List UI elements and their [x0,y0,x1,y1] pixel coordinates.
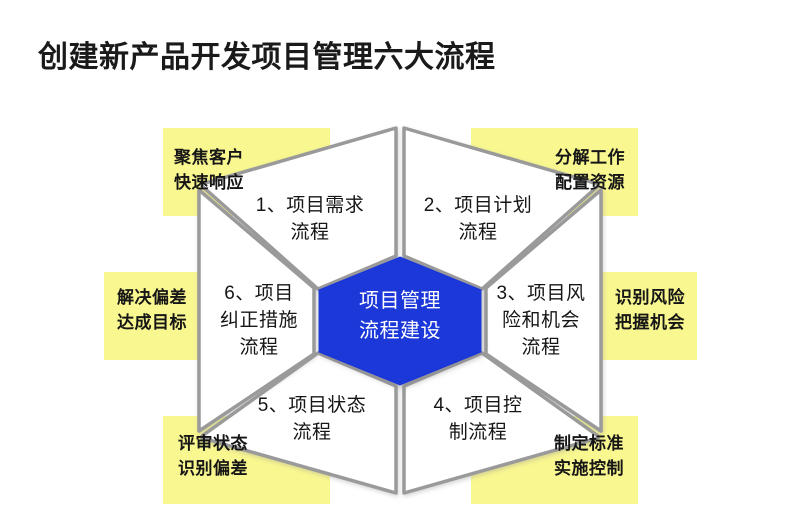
note-bottom-right-line1: 制定标准 [554,433,624,453]
note-right-line2: 把握机会 [615,312,685,332]
segment-3-label-line2: 险和机会 [502,309,580,331]
segment-6-label-line3: 流程 [239,336,278,358]
segment-4-label-line2: 制流程 [449,421,508,443]
note-bottom-right-line2: 实施控制 [554,458,624,478]
note-top-right-line1: 分解工作 [555,147,625,167]
segment-3-label-line3: 流程 [521,336,560,358]
segment-5-label-line2: 流程 [292,421,331,443]
segment-5-label-line1: 5、项目状态 [258,394,367,416]
hexagon-process-diagram: 1、项目需求 流程 2、项目计划 流程 3、项目风 险和机会 流程 4、项目控 … [0,0,801,532]
note-top-left-line2: 快速响应 [174,172,244,192]
note-left-line1: 解决偏差 [117,287,187,307]
segment-4-label-line1: 4、项目控 [433,394,522,416]
note-right-line1: 识别风险 [615,287,685,307]
segment-2-label-line1: 2、项目计划 [424,194,533,216]
center-label-line2: 流程建设 [359,319,441,342]
center-label-line1: 项目管理 [359,289,441,312]
segment-1-label-line2: 流程 [290,221,329,243]
note-bottom-left-line2: 识别偏差 [178,458,248,478]
note-top-right-line2: 配置资源 [555,172,625,192]
note-bottom-left-line1: 评审状态 [178,433,248,453]
segment-6-label-line1: 6、项目 [224,283,294,304]
segment-6-label-line2: 纠正措施 [220,309,298,331]
note-left-line2: 达成目标 [117,312,187,332]
segment-2-label-line2: 流程 [458,221,497,243]
segment-3-label-line1: 3、项目风 [496,283,585,304]
segment-1-label-line1: 1、项目需求 [256,194,365,216]
note-top-left-line1: 聚焦客户 [173,147,244,167]
